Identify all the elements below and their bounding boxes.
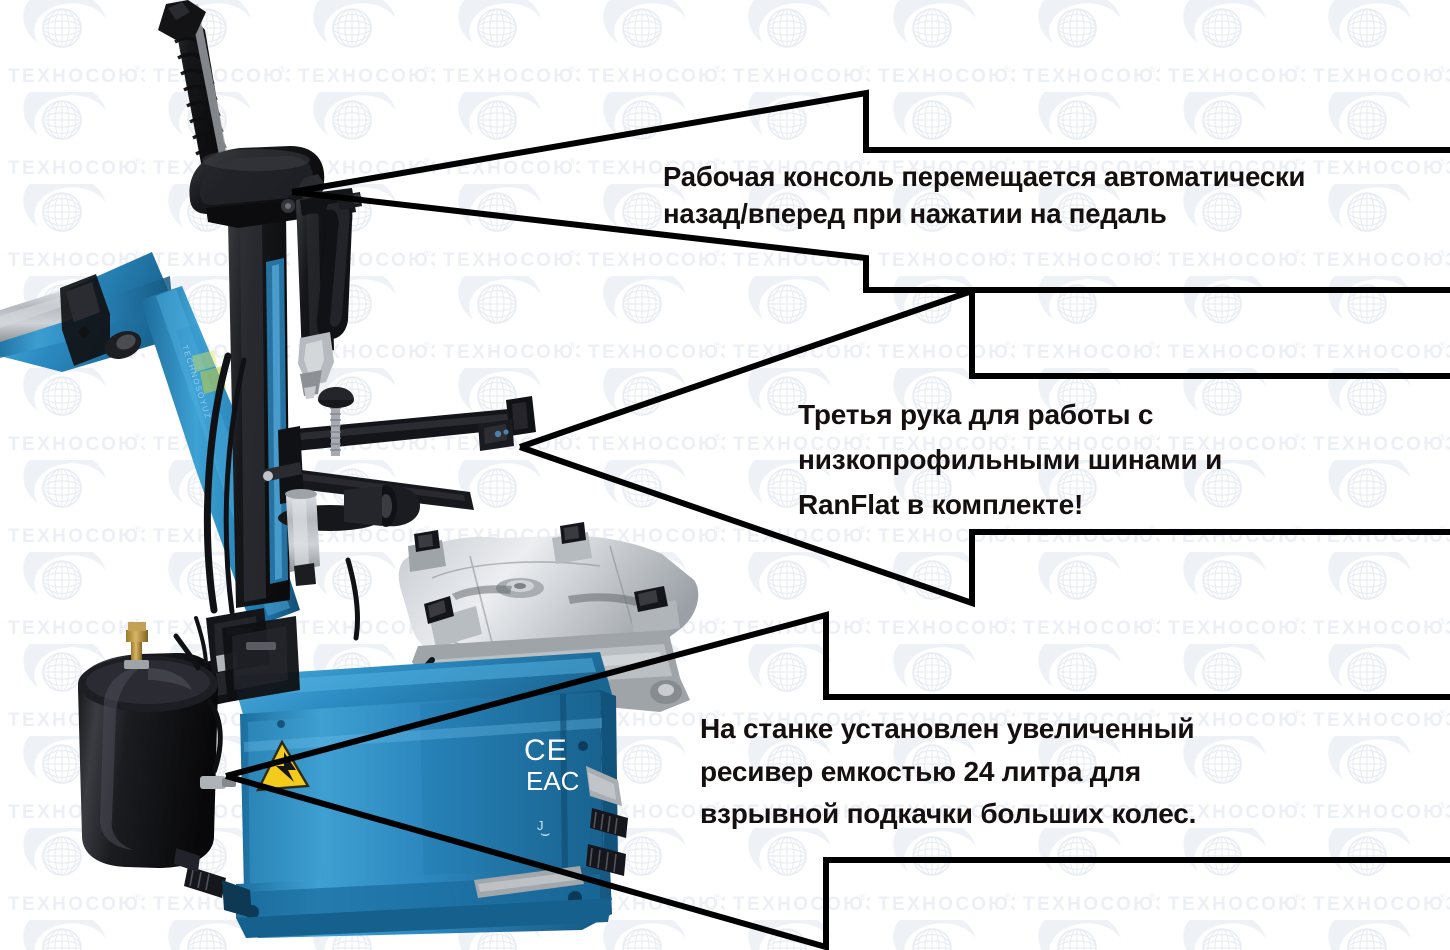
callout-console-line-2: назад/вперед при нажатии на педаль xyxy=(663,195,1438,232)
callout-receiver-text: На станке установлен увеличенный ресивер… xyxy=(700,708,1355,836)
callout-console-text: Рабочая консоль перемещается автоматичес… xyxy=(663,158,1438,232)
callout-third-arm-text: Третья рука для работы с низкопрофильным… xyxy=(798,392,1438,527)
infographic-canvas: ТЕХНОСОЮЗ ® xyxy=(0,0,1450,950)
callout-third-arm-line-2: низкопрофильными шинами и xyxy=(798,437,1438,482)
callout-console-line-1: Рабочая консоль перемещается автоматичес… xyxy=(663,158,1438,195)
callout-receiver-line-2: ресивер емкостью 24 литра для xyxy=(700,751,1355,794)
callout-receiver-line-3: взрывной подкачки больших колес. xyxy=(700,793,1355,836)
callout-third-arm-line-1: Третья рука для работы с xyxy=(798,392,1438,437)
callout-receiver-line-1: На станке установлен увеличенный xyxy=(700,708,1355,751)
callout-third-arm-line-3: RanFlat в комплекте! xyxy=(798,482,1438,527)
